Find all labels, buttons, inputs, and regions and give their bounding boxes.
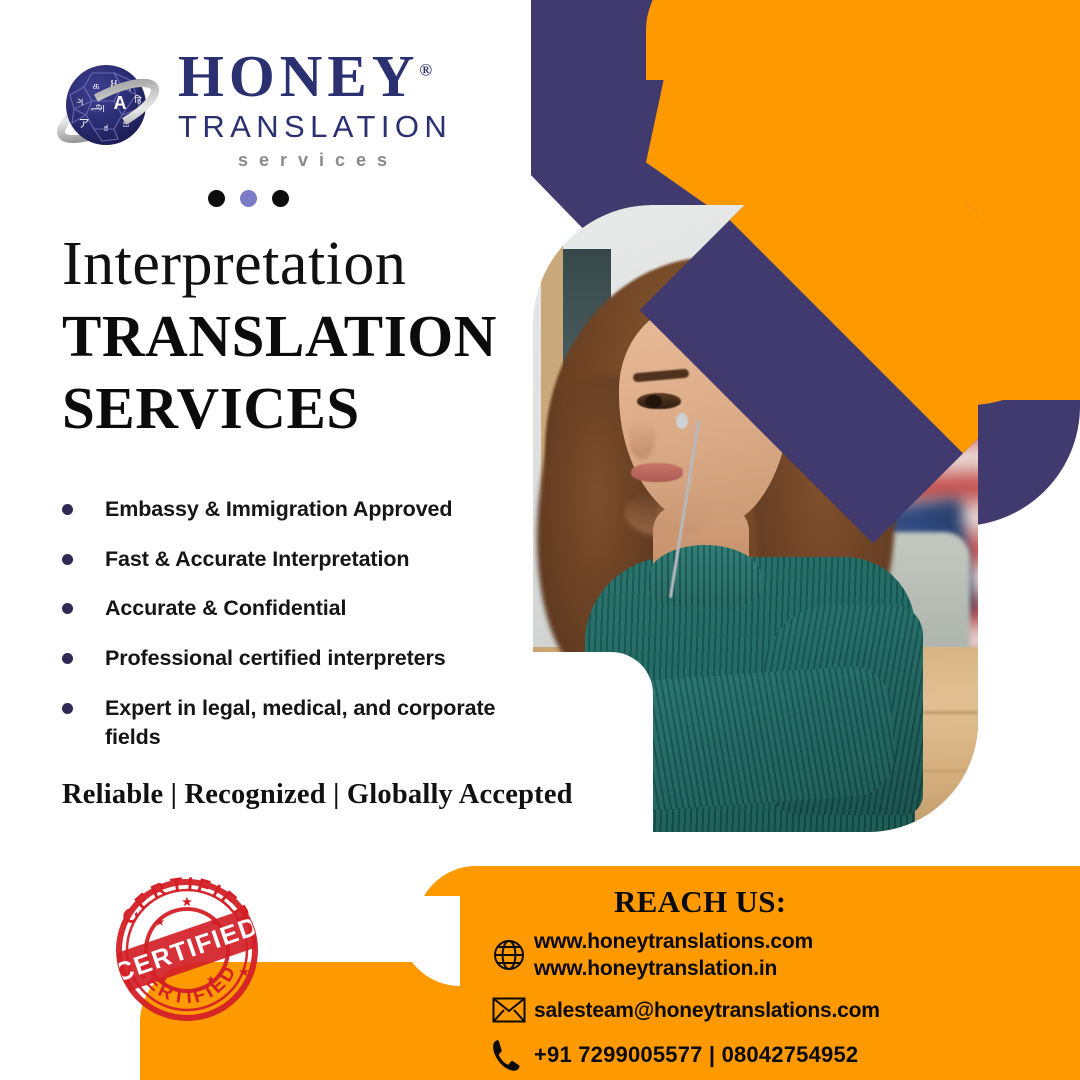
svg-text:ಕ: ಕ <box>104 122 109 134</box>
list-item: Embassy & Immigration Approved <box>56 495 526 525</box>
dot-2 <box>240 190 257 207</box>
contact-heading: REACH US: <box>614 884 786 920</box>
bullet-dot-icon <box>62 554 73 565</box>
phone-numbers[interactable]: +91 7299005577 | 08042754952 <box>534 1041 858 1070</box>
svg-text:हि: हि <box>134 94 141 105</box>
svg-text:க: க <box>92 80 99 92</box>
nose <box>629 419 655 459</box>
list-item-label: Professional certified interpreters <box>105 644 446 674</box>
list-item: Expert in legal, medical, and corporate … <box>56 694 526 753</box>
globe-icon: க អ ا ગ அ A हि ア ಕ ಬ <box>52 53 164 165</box>
list-item: Fast & Accurate Interpretation <box>56 545 526 575</box>
iris <box>645 395 662 408</box>
turtleneck-collar <box>649 545 761 607</box>
page-title: Interpretation TRANSLATION SERVICES <box>62 232 497 441</box>
svg-text:ગ: ગ <box>76 97 83 108</box>
envelope-icon <box>492 997 534 1023</box>
list-item-label: Fast & Accurate Interpretation <box>105 545 409 575</box>
website-links[interactable]: www.honeytranslations.com www.honeytrans… <box>534 928 813 983</box>
dot-1 <box>208 190 225 207</box>
bullet-dot-icon <box>62 603 73 614</box>
logo-wordmark: HONEY® TRANSLATION services <box>178 48 452 171</box>
contact-list: www.honeytranslations.com www.honeytrans… <box>492 928 880 1080</box>
svg-text:ア: ア <box>79 118 90 130</box>
photo-corner-notch <box>533 652 653 842</box>
poster-canvas: க អ ا ગ அ A हि ア ಕ ಬ HONEY® TRANSLATION … <box>0 0 1080 1080</box>
email-links[interactable]: salesteam@honeytranslations.com <box>534 997 880 1024</box>
dot-separator <box>208 190 289 207</box>
registered-trademark-icon: ® <box>419 60 432 79</box>
list-item-label: Embassy & Immigration Approved <box>105 495 452 525</box>
contact-row-website[interactable]: www.honeytranslations.com www.honeytrans… <box>492 928 880 983</box>
email-link[interactable]: salesteam@honeytranslations.com <box>534 997 880 1024</box>
headline-script: Interpretation <box>62 232 497 297</box>
bullet-dot-icon <box>62 653 73 664</box>
certified-stamp-icon: CERTIFIED CERTIFIED <box>108 872 266 1022</box>
chin-shadow <box>625 489 711 537</box>
website-link-secondary[interactable]: www.honeytranslation.in <box>534 955 813 982</box>
phone-icon <box>492 1038 534 1072</box>
earpiece-bud <box>676 413 688 429</box>
logo-line-services: services <box>178 150 452 171</box>
tagline: Reliable | Recognized | Globally Accepte… <box>62 779 573 811</box>
contact-row-phone[interactable]: +91 7299005577 | 08042754952 <box>492 1038 880 1072</box>
svg-text:A: A <box>114 93 127 113</box>
list-item-label: Accurate & Confidential <box>105 594 346 624</box>
list-item: Accurate & Confidential <box>56 594 526 624</box>
bullet-dot-icon <box>62 504 73 515</box>
list-item-label: Expert in legal, medical, and corporate … <box>105 694 526 753</box>
bullet-dot-icon <box>62 703 73 714</box>
logo-name: HONEY® <box>178 48 452 106</box>
headline-bold-1: TRANSLATION <box>62 303 497 369</box>
list-item: Professional certified interpreters <box>56 644 526 674</box>
lips <box>631 463 683 482</box>
brand-logo[interactable]: க អ ا ગ அ A हि ア ಕ ಬ HONEY® TRANSLATION … <box>52 48 452 171</box>
headline-bold-2: SERVICES <box>62 375 497 441</box>
dot-3 <box>272 190 289 207</box>
globe-icon <box>492 938 534 972</box>
phone-number[interactable]: +91 7299005577 | 08042754952 <box>534 1041 858 1070</box>
logo-line-translation: TRANSLATION <box>178 109 452 145</box>
logo-name-text: HONEY <box>178 43 419 109</box>
website-link-primary[interactable]: www.honeytranslations.com <box>534 928 813 955</box>
contact-row-email[interactable]: salesteam@honeytranslations.com <box>492 997 880 1024</box>
feature-list: Embassy & Immigration Approved Fast & Ac… <box>56 495 526 773</box>
orange-accent-corner <box>646 0 766 80</box>
